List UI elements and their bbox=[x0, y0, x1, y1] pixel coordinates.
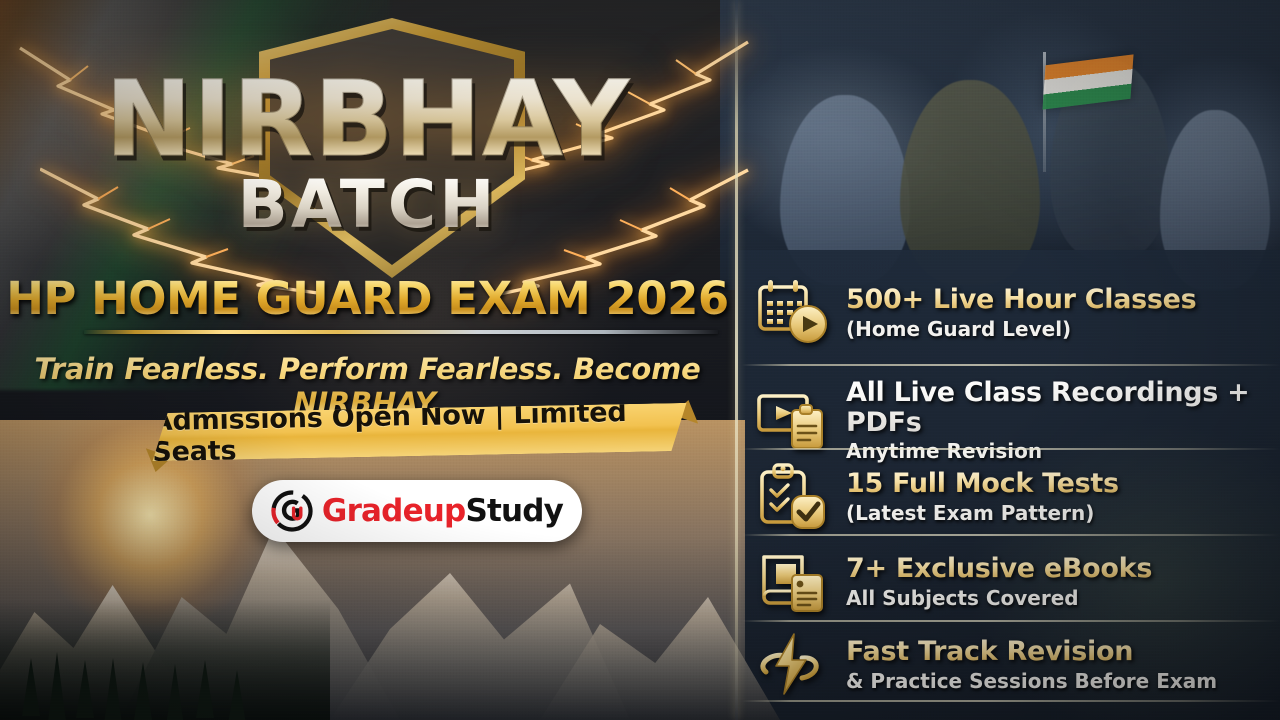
features-panel: 500+ Live Hour Classes (Home Guard Level… bbox=[738, 0, 1280, 720]
calendar-play-icon bbox=[756, 276, 830, 350]
feature-text: 500+ Live Hour Classes (Home Guard Level… bbox=[846, 285, 1196, 340]
logo-suffix-text: Study bbox=[465, 493, 563, 529]
feature-separator bbox=[742, 534, 1280, 536]
feature-subline: All Subjects Covered bbox=[846, 587, 1152, 610]
feature-item-mock-tests[interactable]: 15 Full Mock Tests (Latest Exam Pattern) bbox=[738, 460, 1280, 534]
feature-text: 15 Full Mock Tests (Latest Exam Pattern) bbox=[846, 469, 1119, 524]
clipboard-check-icon bbox=[756, 460, 830, 534]
video-document-icon bbox=[756, 384, 830, 458]
feature-item-ebooks[interactable]: 7+ Exclusive eBooks All Subjects Covered bbox=[738, 545, 1280, 619]
batch-subtitle: BATCH bbox=[0, 172, 735, 238]
feature-headline: All Live Class Recordings + PDFs bbox=[846, 378, 1280, 438]
feature-headline: 7+ Exclusive eBooks bbox=[846, 554, 1152, 584]
feature-separator bbox=[742, 700, 1280, 702]
feature-item-live-classes[interactable]: 500+ Live Hour Classes (Home Guard Level… bbox=[738, 276, 1280, 350]
feature-headline: Fast Track Revision bbox=[846, 637, 1217, 667]
admissions-ribbon[interactable]: Admissions Open Now | Limited Seats bbox=[152, 403, 688, 461]
feature-text: 7+ Exclusive eBooks All Subjects Covered bbox=[846, 554, 1152, 609]
promo-banner: NIRBHAY BATCH HP HOME GUARD EXAM 2026 Tr… bbox=[0, 0, 1280, 720]
feature-headline: 500+ Live Hour Classes bbox=[846, 285, 1196, 315]
feature-separator bbox=[742, 620, 1280, 622]
logo-wordmark: GradeupStudy bbox=[322, 493, 563, 529]
hero-panel: NIRBHAY BATCH HP HOME GUARD EXAM 2026 Tr… bbox=[0, 0, 735, 720]
gold-divider-rule bbox=[84, 330, 718, 334]
lightning-bolt-icon bbox=[756, 628, 830, 702]
feature-subline: & Practice Sessions Before Exam bbox=[846, 670, 1217, 693]
feature-separator bbox=[742, 364, 1280, 366]
book-document-icon bbox=[756, 545, 830, 619]
gradeup-monogram-icon bbox=[271, 490, 313, 532]
gradeup-study-logo[interactable]: GradeupStudy bbox=[252, 480, 582, 542]
exam-title: HP HOME GUARD EXAM 2026 bbox=[0, 272, 735, 325]
feature-text: Fast Track Revision & Practice Sessions … bbox=[846, 637, 1217, 692]
feature-subline: (Latest Exam Pattern) bbox=[846, 502, 1119, 525]
feature-item-fast-track[interactable]: Fast Track Revision & Practice Sessions … bbox=[738, 628, 1280, 702]
feature-subline: (Home Guard Level) bbox=[846, 318, 1196, 341]
batch-title: NIRBHAY bbox=[0, 72, 735, 168]
feature-text: All Live Class Recordings + PDFs Anytime… bbox=[846, 378, 1280, 463]
feature-item-recordings[interactable]: All Live Class Recordings + PDFs Anytime… bbox=[738, 378, 1280, 463]
logo-brand-text: Gradeup bbox=[322, 493, 466, 529]
feature-separator bbox=[742, 448, 1280, 450]
feature-headline: 15 Full Mock Tests bbox=[846, 469, 1119, 499]
